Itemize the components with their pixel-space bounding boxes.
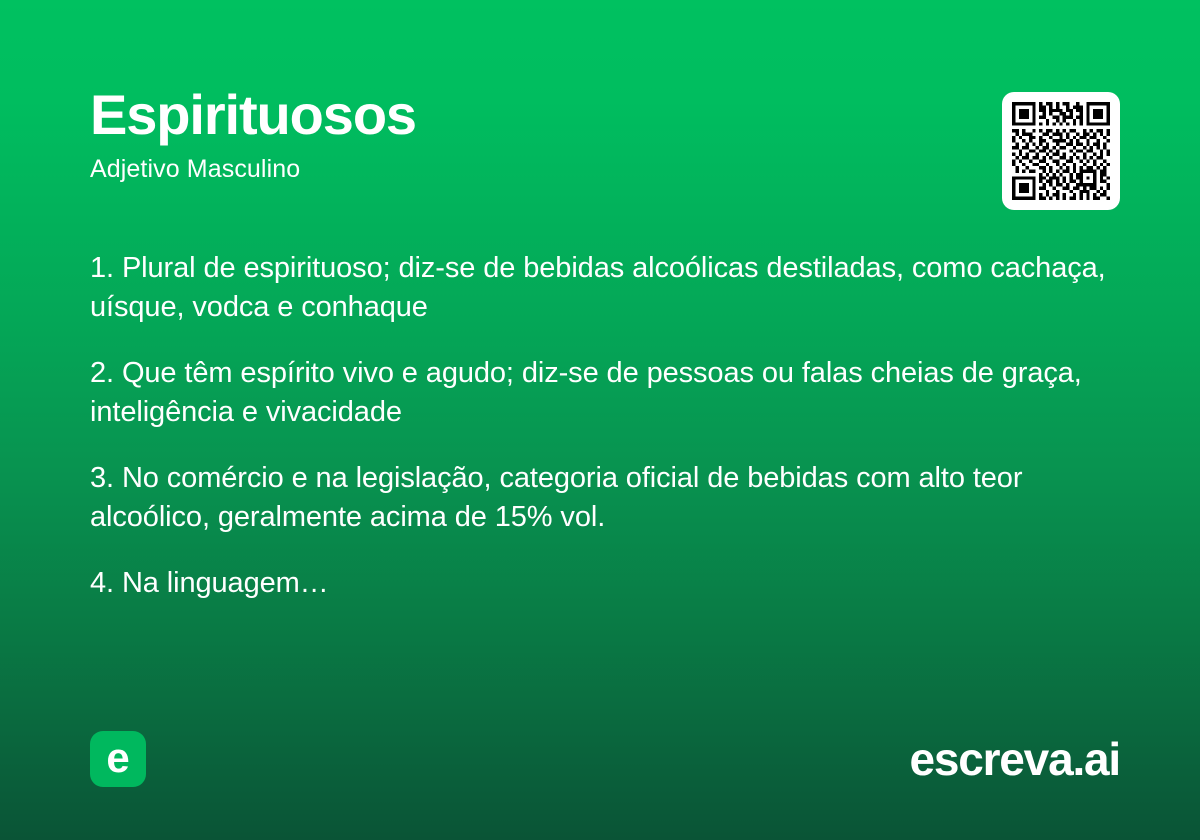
definition-item: 3. No comércio e na legislação, categori… — [90, 459, 1110, 537]
definition-item: 4. Na linguagem… — [90, 564, 1110, 603]
card-header: Espirituosos Adjetivo Masculino — [90, 86, 970, 184]
brand-logo-icon: e — [90, 731, 146, 787]
card-footer: e escreva.ai — [90, 731, 1120, 787]
definition-item: 2. Que têm espírito vivo e agudo; diz-se… — [90, 354, 1110, 432]
brand-logo-letter: e — [106, 737, 129, 779]
definition-list: 1. Plural de espirituoso; diz-se de bebi… — [90, 249, 1110, 603]
page-title: Espirituosos — [90, 86, 970, 145]
brand-name: escreva.ai — [909, 732, 1120, 786]
dictionary-card: Espirituosos Adjetivo Masculino — [0, 0, 1200, 840]
part-of-speech-label: Adjetivo Masculino — [90, 155, 970, 184]
qr-code-card[interactable] — [1002, 92, 1120, 210]
definition-item: 1. Plural de espirituoso; diz-se de bebi… — [90, 249, 1110, 327]
qr-code-icon — [1012, 102, 1110, 200]
